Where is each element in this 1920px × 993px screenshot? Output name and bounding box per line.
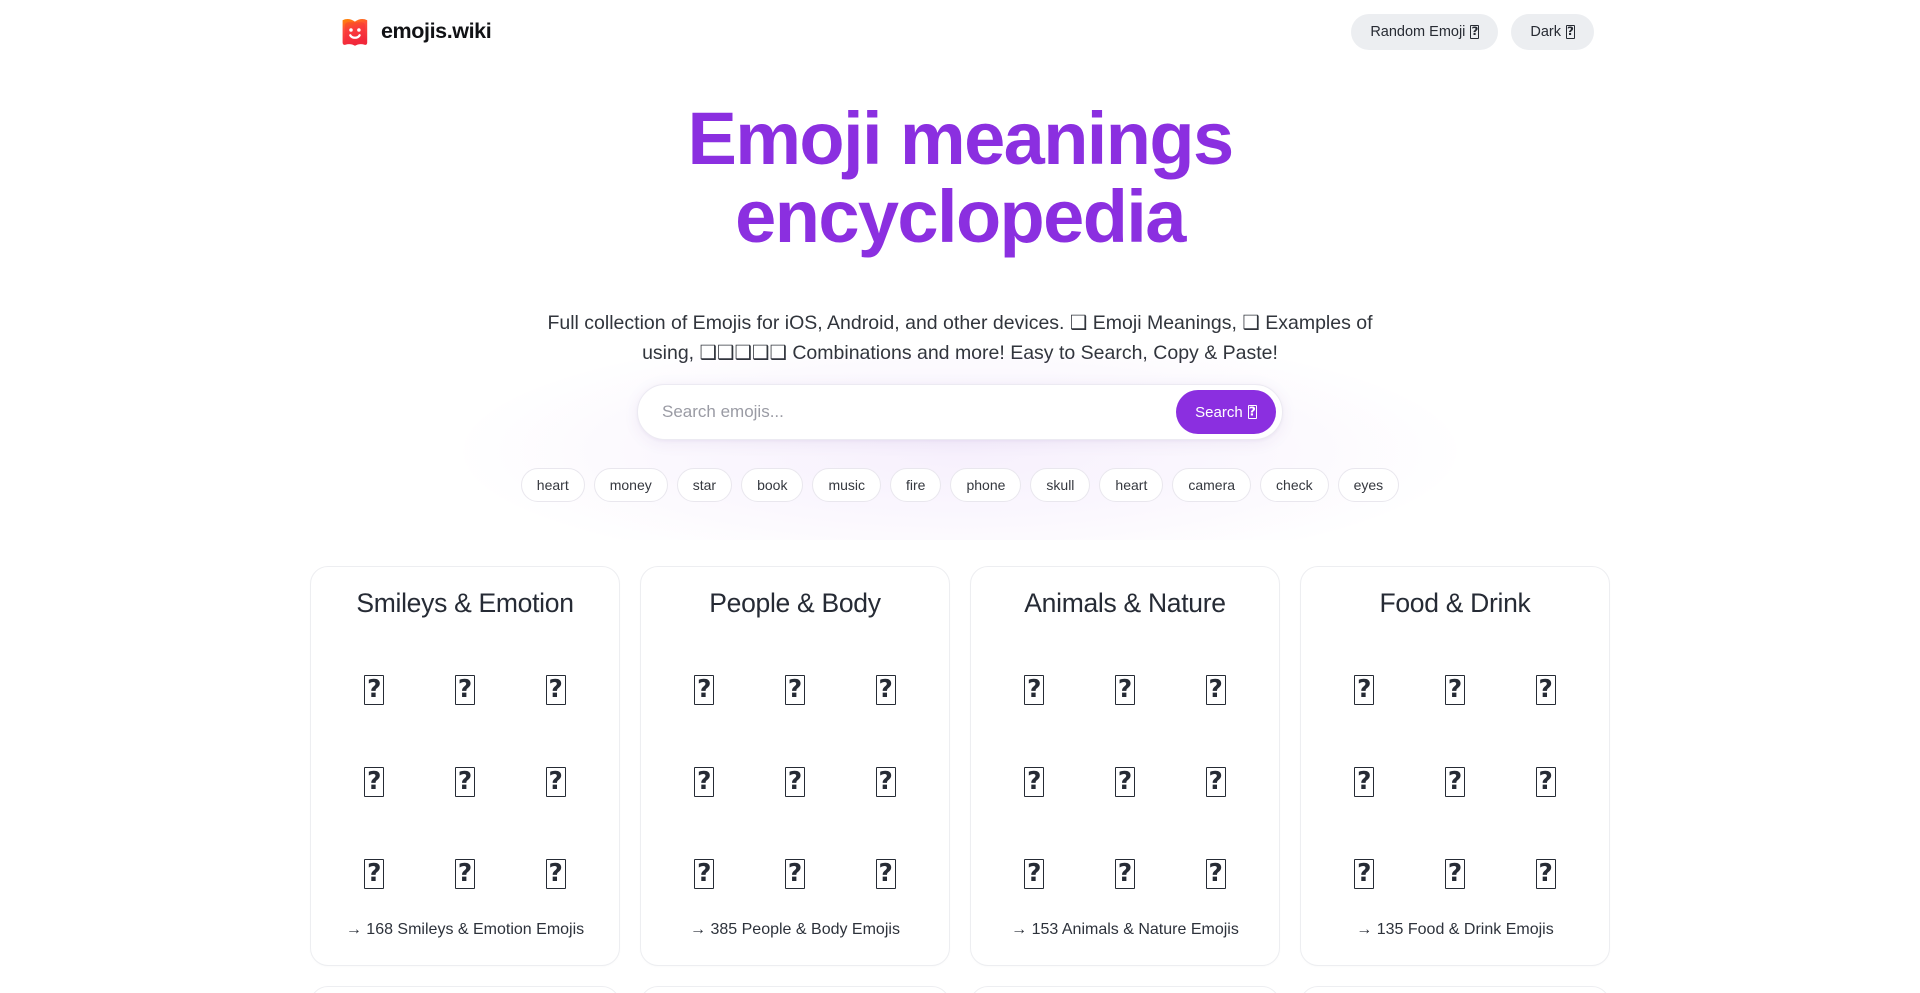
emoji-preview-tile[interactable] [1523,759,1569,805]
category-link[interactable]: → 168 Smileys & Emotion Emojis [346,920,584,947]
missing-glyph-icon [876,767,896,797]
emoji-preview-grid [1319,644,1591,920]
emoji-preview-tile[interactable] [442,759,488,805]
missing-glyph-icon [1445,675,1465,705]
emoji-preview-tile[interactable] [442,851,488,897]
emoji-preview-tile[interactable] [1523,851,1569,897]
missing-glyph-icon [455,767,475,797]
category-grid: Smileys & Emotion → 168 Smileys & Emotio… [310,566,1610,966]
missing-glyph-icon [1206,675,1226,705]
emoji-preview-tile[interactable] [1193,851,1239,897]
tag-pill-money[interactable]: money [594,468,668,502]
category-card-partial[interactable] [1300,986,1610,993]
missing-glyph-icon [1024,767,1044,797]
category-title: Smileys & Emotion [356,589,573,618]
category-card-people-body[interactable]: People & Body → 385 People & Body Emojis [640,566,950,966]
emoji-preview-tile[interactable] [1432,667,1478,713]
search-glow-backdrop [450,355,1470,540]
page-title: Emoji meanings encyclopedia [0,100,1920,257]
missing-glyph-icon [1115,767,1135,797]
missing-glyph-icon [455,675,475,705]
category-card-partial[interactable] [640,986,950,993]
emoji-preview-tile[interactable] [1011,667,1057,713]
emoji-preview-tile[interactable] [533,667,579,713]
page-root: emojis.wiki Random Emoji Dark Emoji mean… [0,0,1920,993]
missing-glyph-icon [1445,767,1465,797]
category-card-food-drink[interactable]: Food & Drink → 135 Food & Drink Emojis [1300,566,1610,966]
category-card-partial[interactable] [310,986,620,993]
missing-glyph-icon [1536,767,1556,797]
category-title: Food & Drink [1379,589,1530,618]
emoji-preview-tile[interactable] [351,759,397,805]
missing-glyph-icon [364,859,384,889]
category-grid-next-row [310,986,1610,993]
missing-glyph-icon [1206,767,1226,797]
missing-glyph-icon [1354,675,1374,705]
emoji-preview-tile[interactable] [1341,667,1387,713]
header-actions: Random Emoji Dark [1351,14,1594,51]
tag-pill-skull[interactable]: skull [1030,468,1090,502]
missing-glyph-icon [1024,675,1044,705]
category-title: People & Body [709,589,880,618]
missing-glyph-icon [785,675,805,705]
missing-glyph-icon [546,767,566,797]
emoji-preview-tile[interactable] [1102,851,1148,897]
missing-glyph-icon [1115,859,1135,889]
emoji-preview-tile[interactable] [1341,759,1387,805]
emoji-preview-tile[interactable] [863,851,909,897]
missing-glyph-icon [455,859,475,889]
emoji-preview-tile[interactable] [1011,851,1057,897]
brand-name: emojis.wiki [381,21,491,43]
missing-glyph-icon [364,767,384,797]
missing-glyph-icon [785,859,805,889]
emoji-preview-tile[interactable] [681,667,727,713]
tag-pill-phone[interactable]: phone [950,468,1021,502]
category-card-animals-nature[interactable]: Animals & Nature → 153 Animals & Nature … [970,566,1280,966]
missing-glyph-icon [694,767,714,797]
emoji-preview-tile[interactable] [1102,667,1148,713]
missing-glyph-icon [546,675,566,705]
category-title: Animals & Nature [1024,589,1225,618]
emoji-preview-grid [989,644,1261,920]
category-link[interactable]: → 135 Food & Drink Emojis [1356,920,1553,947]
missing-glyph-icon [1024,859,1044,889]
tag-pill-eyes[interactable]: eyes [1338,468,1400,502]
emoji-preview-tile[interactable] [863,667,909,713]
emoji-preview-grid [659,644,931,920]
missing-glyph-icon [1470,25,1479,39]
random-emoji-button-label: Random Emoji [1370,25,1465,40]
emoji-preview-tile[interactable] [1432,759,1478,805]
emoji-preview-tile[interactable] [772,759,818,805]
emoji-preview-tile[interactable] [1193,759,1239,805]
suggested-tags: heart money star book music fire phone s… [410,468,1510,502]
emoji-preview-tile[interactable] [351,667,397,713]
missing-glyph-icon [1115,675,1135,705]
missing-glyph-icon [1354,767,1374,797]
missing-glyph-icon [785,767,805,797]
search-bar[interactable]: Search [637,384,1283,440]
dark-mode-button-label: Dark [1530,25,1561,40]
emoji-preview-tile[interactable] [1341,851,1387,897]
search-button-label: Search [1195,405,1243,420]
emoji-preview-tile[interactable] [863,759,909,805]
missing-glyph-icon [364,675,384,705]
emoji-preview-tile[interactable] [1432,851,1478,897]
missing-glyph-icon [876,675,896,705]
tag-pill-fire[interactable]: fire [890,468,941,502]
tag-pill-heart[interactable]: heart [521,468,585,502]
missing-glyph-icon [1566,25,1575,39]
emoji-preview-tile[interactable] [772,667,818,713]
missing-glyph-icon [1536,675,1556,705]
brand-logo-link[interactable]: emojis.wiki [340,17,491,48]
tag-pill-check[interactable]: check [1260,468,1329,502]
emoji-preview-tile[interactable] [442,667,488,713]
missing-glyph-icon [876,859,896,889]
random-emoji-button[interactable]: Random Emoji [1351,14,1498,51]
emoji-preview-tile[interactable] [1193,667,1239,713]
page-title-line-2: encyclopedia [735,175,1185,258]
book-smiley-logo-icon [340,17,370,48]
site-header: emojis.wiki Random Emoji Dark [0,0,1920,64]
hero-section: Emoji meanings encyclopedia Full collect… [0,64,1920,368]
page-title-line-1: Emoji meanings [687,97,1232,180]
tag-pill-music[interactable]: music [812,468,881,502]
emoji-preview-tile[interactable] [533,851,579,897]
tag-pill-book[interactable]: book [741,468,803,502]
missing-glyph-icon [1206,859,1226,889]
search-button[interactable]: Search [1176,390,1276,434]
emoji-preview-tile[interactable] [1523,667,1569,713]
missing-glyph-icon [1536,859,1556,889]
missing-glyph-icon [546,859,566,889]
dark-mode-button[interactable]: Dark [1511,14,1594,51]
category-card-partial[interactable] [970,986,1280,993]
emoji-preview-tile[interactable] [681,851,727,897]
missing-glyph-icon [694,859,714,889]
emoji-preview-tile[interactable] [681,759,727,805]
hero-subtitle: Full collection of Emojis for iOS, Andro… [540,309,1380,368]
missing-glyph-icon [694,675,714,705]
magnifier-missing-glyph-icon [1248,405,1257,419]
emoji-preview-tile[interactable] [1011,759,1057,805]
category-card-smileys-emotion[interactable]: Smileys & Emotion → 168 Smileys & Emotio… [310,566,620,966]
hero-subtitle-line-2: using, ❑❑❑❑❑ Combinations and more! Easy… [642,342,1278,364]
missing-glyph-icon [1354,859,1374,889]
search-section: Search [637,384,1283,440]
emoji-preview-tile[interactable] [772,851,818,897]
tag-pill-heart-2[interactable]: heart [1099,468,1163,502]
emoji-preview-tile[interactable] [351,851,397,897]
missing-glyph-icon [1445,859,1465,889]
category-link[interactable]: → 153 Animals & Nature Emojis [1011,920,1239,947]
category-link[interactable]: → 385 People & Body Emojis [690,920,900,947]
hero-subtitle-line-1: Full collection of Emojis for iOS, Andro… [547,312,1372,334]
emoji-preview-tile[interactable] [1102,759,1148,805]
search-input[interactable] [662,385,1176,439]
emoji-preview-tile[interactable] [533,759,579,805]
tag-pill-star[interactable]: star [677,468,732,502]
emoji-preview-grid [329,644,601,920]
tag-pill-camera[interactable]: camera [1172,468,1251,502]
